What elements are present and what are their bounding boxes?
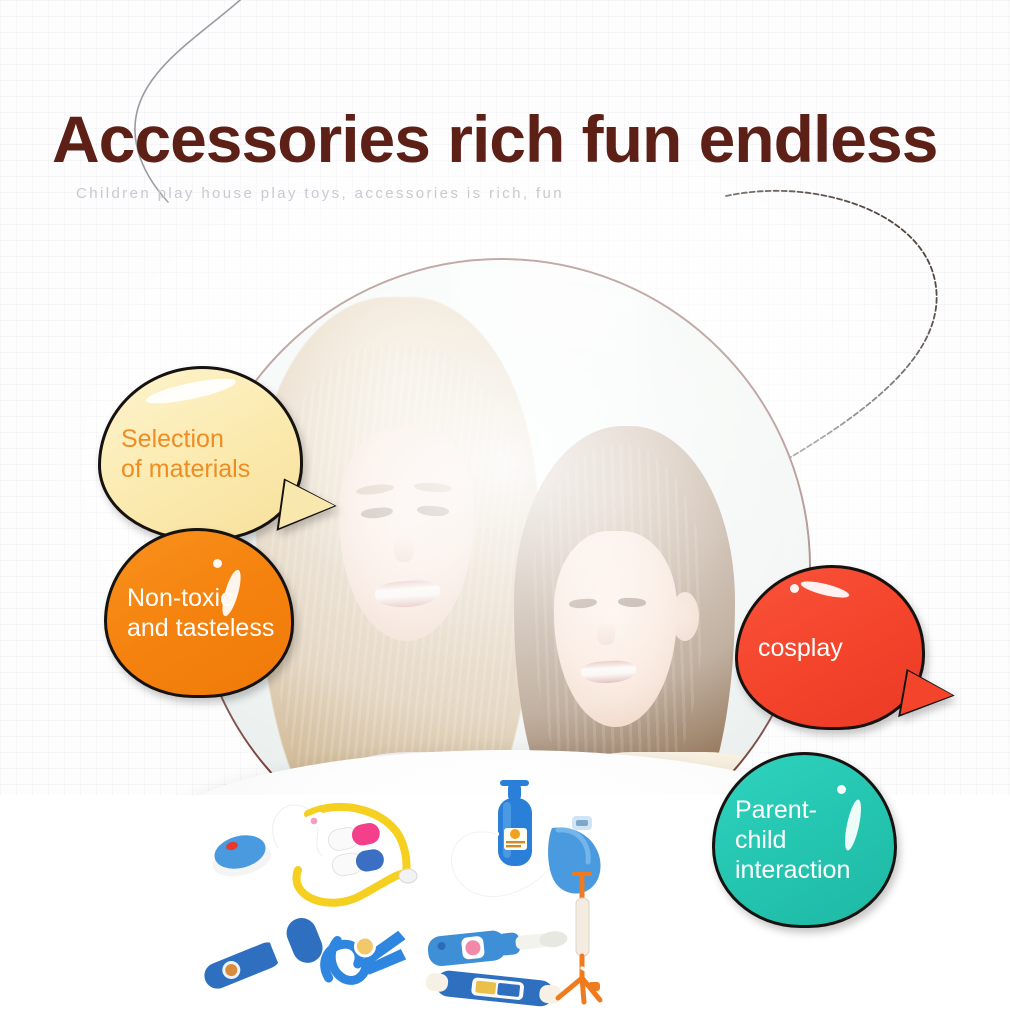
bubble-tail — [279, 481, 337, 536]
bubble-tail — [901, 671, 956, 723]
bubble-text-cosplay: cosplay — [738, 633, 843, 663]
toy-products-group — [180, 770, 630, 1010]
bubble-line-2: and tasteless — [127, 613, 274, 643]
bubble-text-materials: Selection of materials — [101, 424, 250, 484]
feature-bubble-materials[interactable]: Selection of materials — [98, 366, 303, 541]
promo-banner: Mother with long blonde hair and young g… — [0, 0, 1010, 1010]
bubble-line-2: of materials — [121, 454, 250, 484]
bubble-text-parentchild: Parent- child interaction — [715, 795, 850, 885]
bubble-gloss-dot — [837, 785, 846, 794]
bubble-gloss-dot — [790, 584, 799, 593]
bubble-line-1: Parent- — [735, 795, 850, 825]
mother-nose — [394, 534, 414, 562]
girl-nose — [597, 622, 614, 645]
bubble-gloss-highlight — [799, 578, 850, 601]
bubble-text-nontoxic: Non-toxic and tasteless — [107, 583, 274, 643]
bubble-line-3: interaction — [735, 855, 850, 885]
feature-bubble-parentchild[interactable]: Parent- child interaction — [712, 752, 897, 928]
page-subheadline: Children play house play toys, accessori… — [76, 185, 564, 202]
bubble-line-1: Non-toxic — [127, 583, 274, 613]
bubble-line-1: cosplay — [758, 633, 843, 663]
bubble-line-1: Selection — [121, 424, 250, 454]
bubble-gloss-highlight — [144, 374, 237, 409]
bubble-gloss-dot — [213, 559, 222, 568]
page-headline: Accessories rich fun endless — [52, 106, 982, 172]
bubble-line-2: child — [735, 825, 850, 855]
